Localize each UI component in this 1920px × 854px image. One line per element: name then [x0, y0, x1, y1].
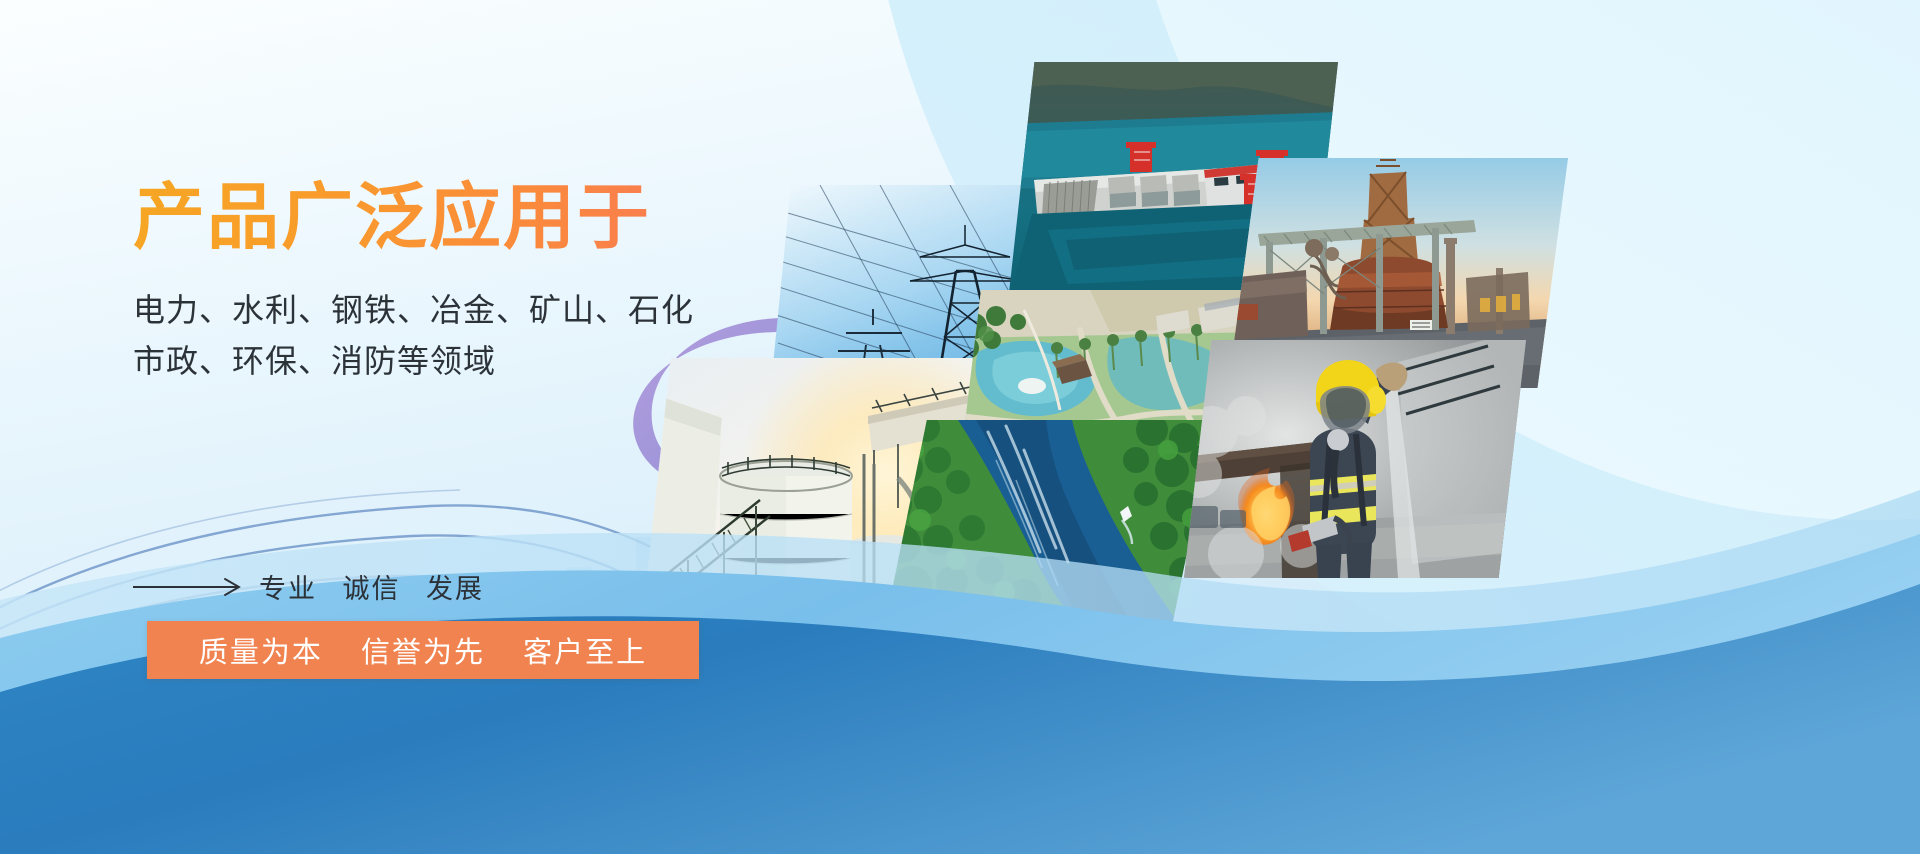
motto-word-1: 专业 — [259, 574, 317, 604]
industry-subtitle-line-1: 电力、水利、钢铁、冶金、矿山、石化 — [133, 285, 893, 337]
motto-word-2: 诚信 — [343, 574, 401, 604]
headline-copy-block: 产品广泛应用于 电力、水利、钢铁、冶金、矿山、石化 市政、环保、消防等领域 — [133, 178, 893, 388]
industry-subtitle: 电力、水利、钢铁、冶金、矿山、石化 市政、环保、消防等领域 — [133, 285, 893, 389]
motto-row: 专业 诚信 发展 — [133, 567, 484, 606]
slogan-badge: 质量为本 信誉为先 客户至上 — [147, 621, 699, 679]
motto-text: 专业 诚信 发展 — [259, 567, 484, 606]
slogan-part-3: 客户至上 — [523, 637, 647, 669]
long-arrow-right-icon — [133, 577, 245, 597]
slogan-part-1: 质量为本 — [199, 637, 323, 669]
page-title: 产品广泛应用于 — [133, 178, 893, 259]
motto-word-3: 发展 — [426, 574, 484, 604]
slogan-badge-text: 质量为本 信誉为先 客户至上 — [199, 629, 647, 671]
slogan-part-2: 信誉为先 — [361, 637, 485, 669]
industry-subtitle-line-2: 市政、环保、消防等领域 — [133, 336, 893, 388]
application-banner: 产品广泛应用于 电力、水利、钢铁、冶金、矿山、石化 市政、环保、消防等领域 专业… — [0, 0, 1920, 854]
